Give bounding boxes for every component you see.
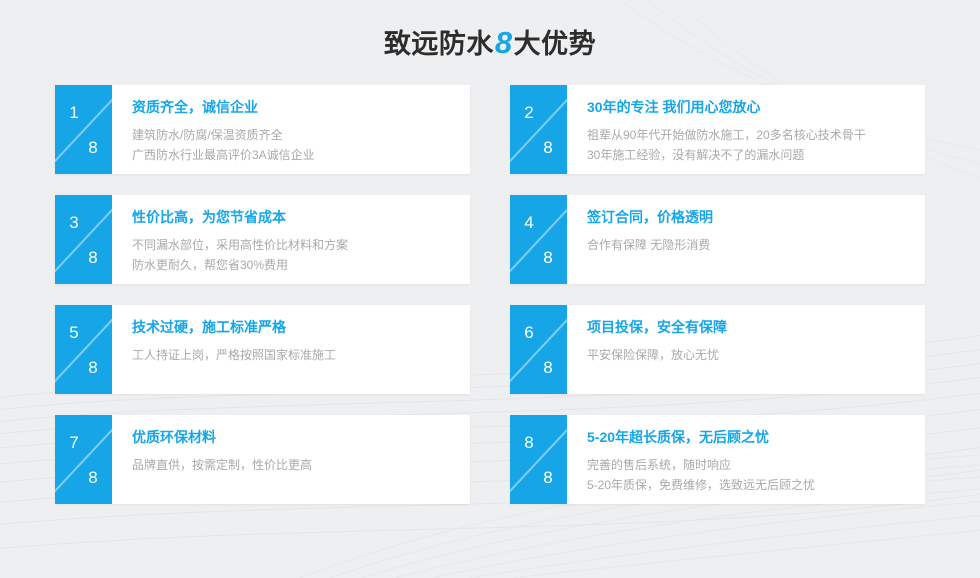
card-description-line: 不同漏水部位，采用高性价比材料和方案 xyxy=(132,235,470,255)
card-number-badge: 1 8 xyxy=(55,85,112,174)
card-description-list: 建筑防水/防腐/保温资质齐全 广西防水行业最高评价3A诚信企业 xyxy=(132,125,470,165)
card-number-badge: 6 8 xyxy=(510,305,567,394)
card-body: 技术过硬，施工标准严格 工人持证上岗，严格按照国家标准施工 xyxy=(112,305,470,394)
card-total-number: 8 xyxy=(538,139,558,156)
card-number-badge: 2 8 xyxy=(510,85,567,174)
card-description-list: 祖辈从90年代开始做防水施工，20多名核心技术骨干 30年施工经验，没有解决不了… xyxy=(587,125,925,165)
advantage-card[interactable]: 5 8 技术过硬，施工标准严格 工人持证上岗，严格按照国家标准施工 xyxy=(55,305,470,394)
page-title: 致远防水8大优势 xyxy=(384,27,596,58)
card-body: 优质环保材料 品牌直供，按需定制，性价比更高 xyxy=(112,415,470,504)
advantage-card[interactable]: 8 8 5-20年超长质保，无后顾之忧 完善的售后系统，随时响应 5-20年质保… xyxy=(510,415,925,504)
card-description-line: 建筑防水/防腐/保温资质齐全 xyxy=(132,125,470,145)
card-index-number: 1 xyxy=(64,104,84,121)
card-description-line: 完善的售后系统，随时响应 xyxy=(587,455,925,475)
advantage-card[interactable]: 7 8 优质环保材料 品牌直供，按需定制，性价比更高 xyxy=(55,415,470,504)
advantage-card[interactable]: 4 8 签订合同，价格透明 合作有保障 无隐形消费 xyxy=(510,195,925,284)
card-body: 30年的专注 我们用心您放心 祖辈从90年代开始做防水施工，20多名核心技术骨干… xyxy=(567,85,925,174)
card-number-badge: 3 8 xyxy=(55,195,112,284)
card-number-badge: 4 8 xyxy=(510,195,567,284)
card-heading: 签订合同，价格透明 xyxy=(587,209,925,226)
advantage-card[interactable]: 3 8 性价比高，为您节省成本 不同漏水部位，采用高性价比材料和方案 防水更耐久… xyxy=(55,195,470,284)
card-description-line: 品牌直供，按需定制，性价比更高 xyxy=(132,455,470,475)
card-description-line: 祖辈从90年代开始做防水施工，20多名核心技术骨干 xyxy=(587,125,925,145)
card-heading: 优质环保材料 xyxy=(132,429,470,446)
card-heading: 资质齐全，诚信企业 xyxy=(132,99,470,116)
card-description-line: 广西防水行业最高评价3A诚信企业 xyxy=(132,145,470,165)
card-heading: 技术过硬，施工标准严格 xyxy=(132,319,470,336)
card-index-number: 4 xyxy=(519,214,539,231)
advantage-card[interactable]: 6 8 项目投保，安全有保障 平安保险保障，放心无忧 xyxy=(510,305,925,394)
card-total-number: 8 xyxy=(83,249,103,266)
card-description-line: 工人持证上岗，严格按照国家标准施工 xyxy=(132,345,470,365)
card-body: 签订合同，价格透明 合作有保障 无隐形消费 xyxy=(567,195,925,284)
card-heading: 项目投保，安全有保障 xyxy=(587,319,925,336)
page-title-prefix: 致远防水 xyxy=(384,29,494,59)
card-description-line: 5-20年质保，免费维修，选致远无后顾之忧 xyxy=(587,475,925,495)
advantage-card[interactable]: 2 8 30年的专注 我们用心您放心 祖辈从90年代开始做防水施工，20多名核心… xyxy=(510,85,925,174)
card-description-line: 30年施工经验，没有解决不了的漏水问题 xyxy=(587,145,925,165)
card-index-number: 2 xyxy=(519,104,539,121)
card-body: 性价比高，为您节省成本 不同漏水部位，采用高性价比材料和方案 防水更耐久，帮您省… xyxy=(112,195,470,284)
card-description-list: 工人持证上岗，严格按照国家标准施工 xyxy=(132,345,470,365)
card-index-number: 7 xyxy=(64,434,84,451)
card-description-list: 合作有保障 无隐形消费 xyxy=(587,235,925,255)
card-total-number: 8 xyxy=(83,359,103,376)
page-title-accent-number: 8 xyxy=(494,25,514,60)
card-heading: 性价比高，为您节省成本 xyxy=(132,209,470,226)
card-total-number: 8 xyxy=(538,469,558,486)
card-total-number: 8 xyxy=(538,249,558,266)
card-body: 项目投保，安全有保障 平安保险保障，放心无忧 xyxy=(567,305,925,394)
card-number-badge: 7 8 xyxy=(55,415,112,504)
page-header: 致远防水8大优势 xyxy=(0,0,980,85)
card-index-number: 5 xyxy=(64,324,84,341)
card-description-line: 防水更耐久，帮您省30%费用 xyxy=(132,255,470,275)
card-description-list: 不同漏水部位，采用高性价比材料和方案 防水更耐久，帮您省30%费用 xyxy=(132,235,470,275)
page-title-suffix: 大优势 xyxy=(514,29,597,59)
card-body: 资质齐全，诚信企业 建筑防水/防腐/保温资质齐全 广西防水行业最高评价3A诚信企… xyxy=(112,85,470,174)
card-body: 5-20年超长质保，无后顾之忧 完善的售后系统，随时响应 5-20年质保，免费维… xyxy=(567,415,925,504)
card-index-number: 6 xyxy=(519,324,539,341)
card-description-list: 品牌直供，按需定制，性价比更高 xyxy=(132,455,470,475)
card-index-number: 8 xyxy=(519,434,539,451)
card-total-number: 8 xyxy=(83,139,103,156)
card-description-line: 合作有保障 无隐形消费 xyxy=(587,235,925,255)
card-total-number: 8 xyxy=(83,469,103,486)
advantage-cards-grid: 1 8 资质齐全，诚信企业 建筑防水/防腐/保温资质齐全 广西防水行业最高评价3… xyxy=(55,85,925,504)
card-number-badge: 8 8 xyxy=(510,415,567,504)
card-index-number: 3 xyxy=(64,214,84,231)
card-description-list: 完善的售后系统，随时响应 5-20年质保，免费维修，选致远无后顾之忧 xyxy=(587,455,925,495)
card-total-number: 8 xyxy=(538,359,558,376)
advantage-card[interactable]: 1 8 资质齐全，诚信企业 建筑防水/防腐/保温资质齐全 广西防水行业最高评价3… xyxy=(55,85,470,174)
card-heading: 30年的专注 我们用心您放心 xyxy=(587,99,925,116)
card-number-badge: 5 8 xyxy=(55,305,112,394)
advantages-page: 致远防水8大优势 1 8 资质齐全，诚信企业 建筑防水/防腐/保温资质齐全 广西… xyxy=(0,0,980,578)
card-heading: 5-20年超长质保，无后顾之忧 xyxy=(587,429,925,446)
card-description-list: 平安保险保障，放心无忧 xyxy=(587,345,925,365)
card-description-line: 平安保险保障，放心无忧 xyxy=(587,345,925,365)
